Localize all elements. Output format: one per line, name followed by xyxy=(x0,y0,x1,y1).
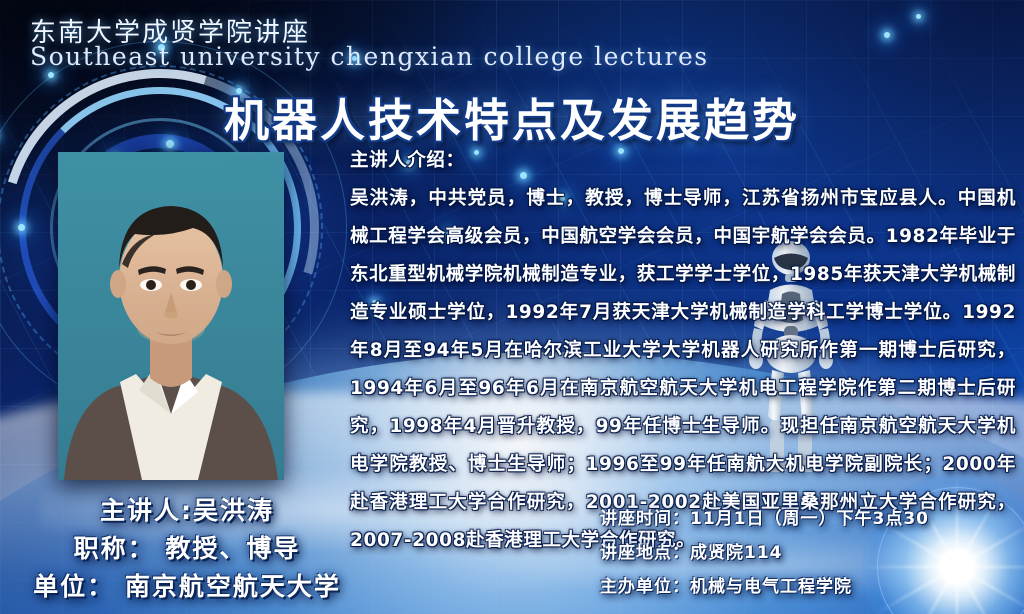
lecture-poster: 东南大学成贤学院讲座 Southeast university chengxia… xyxy=(0,0,1024,614)
event-time: 讲座时间：11月1日（周一）下午3点30 xyxy=(600,502,929,536)
page-title: 机器人技术特点及发展趋势 xyxy=(224,84,800,149)
speaker-portrait xyxy=(58,152,284,480)
glow-dot xyxy=(916,14,921,19)
speaker-organization: 单位： 南京航空航天大学 xyxy=(22,568,352,606)
event-host: 主办单位：机械与电气工程学院 xyxy=(600,570,929,604)
event-info: 讲座时间：11月1日（周一）下午3点30 讲座地点：成贤院114 主办单位：机械… xyxy=(600,502,929,604)
glow-dot xyxy=(884,32,890,38)
speaker-name: 主讲人:吴洪涛 xyxy=(22,492,352,530)
header-english: Southeast university chengxian college l… xyxy=(30,42,709,71)
speaker-bio: 主讲人介绍： 吴洪涛，中共党员，博士，教授，博士导师，江苏省扬州市宝应县人。中国… xyxy=(350,142,1016,560)
speaker-info: 主讲人:吴洪涛 职称： 教授、博导 单位： 南京航空航天大学 xyxy=(22,492,352,606)
bio-lead: 主讲人介绍： xyxy=(350,142,1016,180)
event-place: 讲座地点：成贤院114 xyxy=(600,536,929,570)
speaker-title: 职称： 教授、博导 xyxy=(22,530,352,568)
